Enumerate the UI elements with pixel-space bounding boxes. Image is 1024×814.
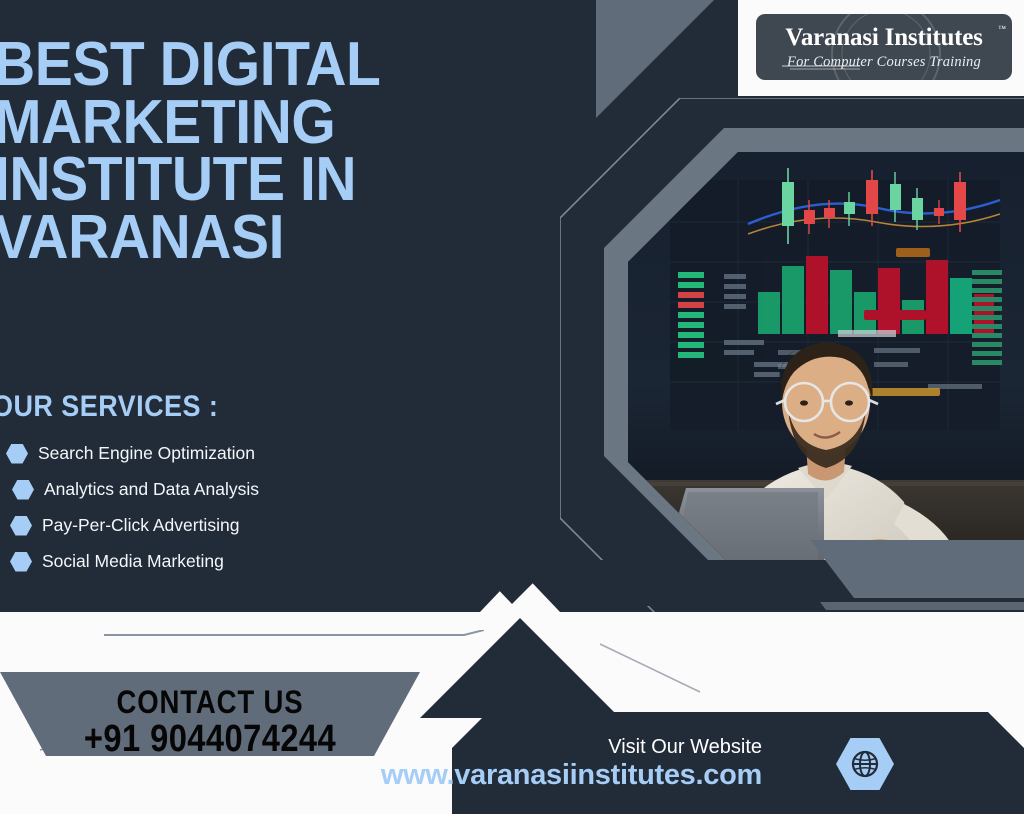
hexagon-bullet-icon xyxy=(10,516,32,536)
services-heading: OUR SERVICES : xyxy=(0,390,218,424)
contact-heading: CONTACT US xyxy=(29,686,390,719)
globe-icon[interactable] xyxy=(836,738,894,790)
headline-line-4: VARANASI xyxy=(0,209,390,267)
services-list: Search Engine Optimization Analytics and… xyxy=(0,436,420,580)
list-item: Analytics and Data Analysis xyxy=(0,472,420,507)
hexagon-bullet-icon xyxy=(10,552,32,572)
hexagon-bullet-icon xyxy=(12,480,34,500)
marketing-banner: Varanasi Institutes ™ For Computer Cours… xyxy=(0,0,1024,814)
page-title: BEST DIGITAL MARKETING INSTITUTE IN VARA… xyxy=(0,36,390,267)
service-label: Search Engine Optimization xyxy=(38,443,255,464)
hairline-decoration xyxy=(104,630,484,640)
brand-logo: Varanasi Institutes ™ For Computer Cours… xyxy=(756,14,1012,80)
list-item: Pay-Per-Click Advertising xyxy=(0,508,420,543)
headline-line-2: MARKETING xyxy=(0,94,390,152)
hexagon-bullet-icon xyxy=(6,444,28,464)
contact-block: CONTACT US +91 9044074244 xyxy=(29,686,390,758)
visit-website-label: Visit Our Website xyxy=(430,736,830,759)
logo-name: Varanasi Institutes xyxy=(756,24,1012,52)
service-label: Pay-Per-Click Advertising xyxy=(42,515,239,536)
hero-photo xyxy=(628,152,1024,572)
headline-line-3: INSTITUTE IN xyxy=(0,151,390,209)
website-url[interactable]: www.varanasiinstitutes.com xyxy=(360,759,830,792)
service-label: Social Media Marketing xyxy=(42,551,224,572)
headline-line-1: BEST DIGITAL xyxy=(0,36,390,94)
logo-trademark-symbol: ™ xyxy=(998,24,1006,33)
gray-lower-accent xyxy=(600,540,1024,680)
list-item: Social Media Marketing xyxy=(0,544,420,579)
logo-tagline: For Computer Courses Training xyxy=(756,54,1012,71)
list-item: Search Engine Optimization xyxy=(0,436,420,471)
contact-phone-number[interactable]: +91 9044074244 xyxy=(29,720,390,759)
service-label: Analytics and Data Analysis xyxy=(44,479,259,500)
